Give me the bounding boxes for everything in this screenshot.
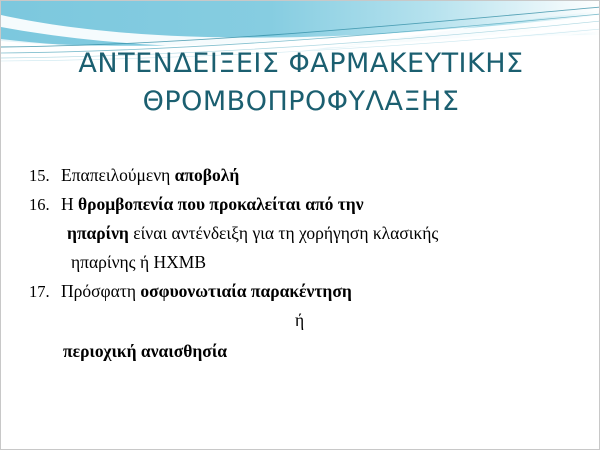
emphasis-text: αποβολή: [175, 165, 240, 185]
list-item-number: 17.: [23, 277, 61, 306]
list-item: 17.Πρόσφατη οσφυονωτιαία παρακέντηση: [23, 277, 583, 306]
plain-text: είναι αντένδειξη για τη χορήγηση κλασική…: [129, 223, 439, 243]
plain-text: ηπαρίνης ή ΗΧΜΒ: [71, 252, 206, 272]
list-item-text: Επαπειλούμενη αποβολή: [61, 161, 583, 190]
presentation-slide: ΑΝΤΕΝΔΕΙΞΕΙΣ ΦΑΡΜΑΚΕΥΤΙΚΗΣ ΘΡΟΜΒΟΠΡΟΦΥΛΑ…: [0, 0, 600, 450]
list-item-text: Η θρομβοπενία που προκαλείται από την: [61, 190, 583, 219]
slide-body-list: 15.Επαπειλούμενη αποβολή16.Η θρομβοπενία…: [23, 161, 583, 366]
list-item-continuation: ηπαρίνης ή ΗΧΜΒ: [23, 248, 583, 277]
list-item-continuation: περιοχική αναισθησία: [23, 337, 583, 366]
list-item: 16.Η θρομβοπενία που προκαλείται από την: [23, 190, 583, 219]
slide-title-line-2: ΘΡΟΜΒΟΠΡΟΦΥΛΑΞΗΣ: [31, 83, 571, 121]
list-item-number: 16.: [23, 190, 61, 219]
plain-text: Η: [61, 194, 78, 214]
list-item: 15.Επαπειλούμενη αποβολή: [23, 161, 583, 190]
emphasis-text: περιοχική αναισθησία: [63, 341, 227, 361]
list-item-continuation: ή: [23, 306, 583, 335]
emphasis-text: θρομβοπενία που προκαλείται από την: [78, 194, 364, 214]
list-item-number: 15.: [23, 161, 61, 190]
emphasis-text: οσφυονωτιαία παρακέντηση: [140, 281, 351, 301]
list-item-text: Πρόσφατη οσφυονωτιαία παρακέντηση: [61, 277, 583, 306]
plain-text: Επαπειλούμενη: [61, 165, 175, 185]
plain-text: ή: [295, 310, 304, 330]
emphasis-text: ηπαρίνη: [67, 223, 129, 243]
list-item-continuation: ηπαρίνη είναι αντένδειξη για τη χορήγηση…: [23, 219, 583, 248]
slide-title: ΑΝΤΕΝΔΕΙΞΕΙΣ ΦΑΡΜΑΚΕΥΤΙΚΗΣ ΘΡΟΜΒΟΠΡΟΦΥΛΑ…: [31, 45, 571, 121]
plain-text: Πρόσφατη: [61, 281, 140, 301]
slide-title-line-1: ΑΝΤΕΝΔΕΙΞΕΙΣ ΦΑΡΜΑΚΕΥΤΙΚΗΣ: [31, 45, 571, 83]
